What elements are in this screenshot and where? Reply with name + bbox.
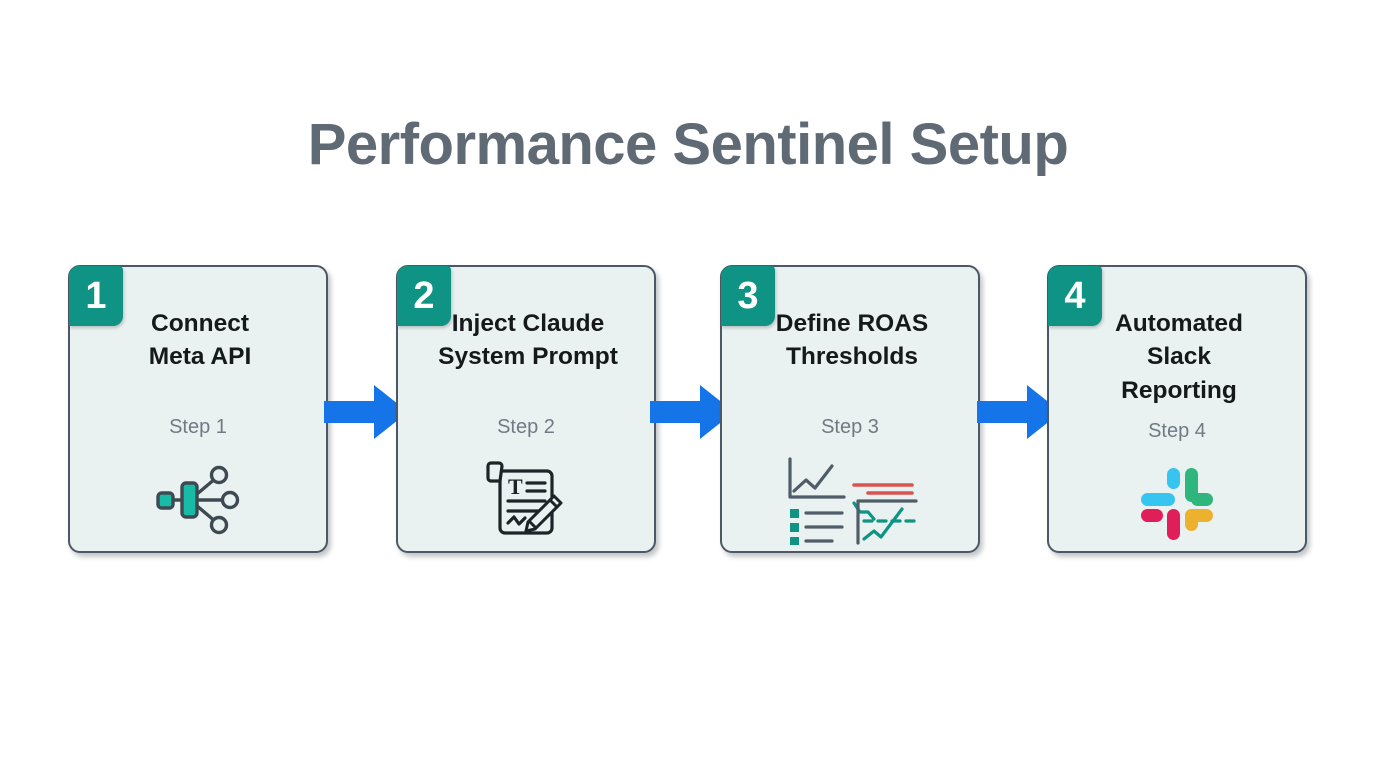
process-flow-diagram: 1 Connect Meta API Step 1 [68,265,1308,555]
step-title-2: Inject Claude System Prompt [404,307,652,374]
step-icon-slot-3 [722,453,978,547]
step-title-line: Meta API [76,340,324,373]
step-title-line: Thresholds [728,340,976,373]
step-title-4: Automated Slack Reporting [1055,307,1303,407]
step-icon-slot-2: T [398,453,654,547]
step-title-line: System Prompt [404,340,652,373]
step-label-3: Step 3 [722,415,978,439]
slack-logo-icon [1138,465,1216,543]
step-label-1: Step 1 [70,415,326,439]
step-title-line: Automated [1055,307,1303,340]
step-card-4[interactable]: 4 Automated Slack Reporting Step 4 [1047,265,1307,553]
prompt-document-pencil-icon: T [483,459,569,541]
step-label-4: Step 4 [1049,419,1305,443]
step-icon-slot-4 [1049,457,1305,551]
step-card-3[interactable]: 3 Define ROAS Thresholds Step 3 [720,265,980,553]
step-title-line: Connect [76,307,324,340]
step-title-line: Define ROAS [728,307,976,340]
step-card-1[interactable]: 1 Connect Meta API Step 1 [68,265,328,553]
step-card-2[interactable]: 2 Inject Claude System Prompt Step 2 T [396,265,656,553]
step-title-1: Connect Meta API [76,307,324,374]
step-title-line: Inject Claude [404,307,652,340]
step-title-line: Slack [1055,340,1303,373]
step-title-line: Reporting [1055,374,1303,407]
step-icon-slot-1 [70,453,326,547]
page-title: Performance Sentinel Setup [0,112,1376,179]
svg-text:T: T [508,474,523,499]
api-hub-icon [152,463,244,537]
threshold-analytics-icon [782,455,918,545]
step-title-3: Define ROAS Thresholds [728,307,976,374]
step-label-2: Step 2 [398,415,654,439]
